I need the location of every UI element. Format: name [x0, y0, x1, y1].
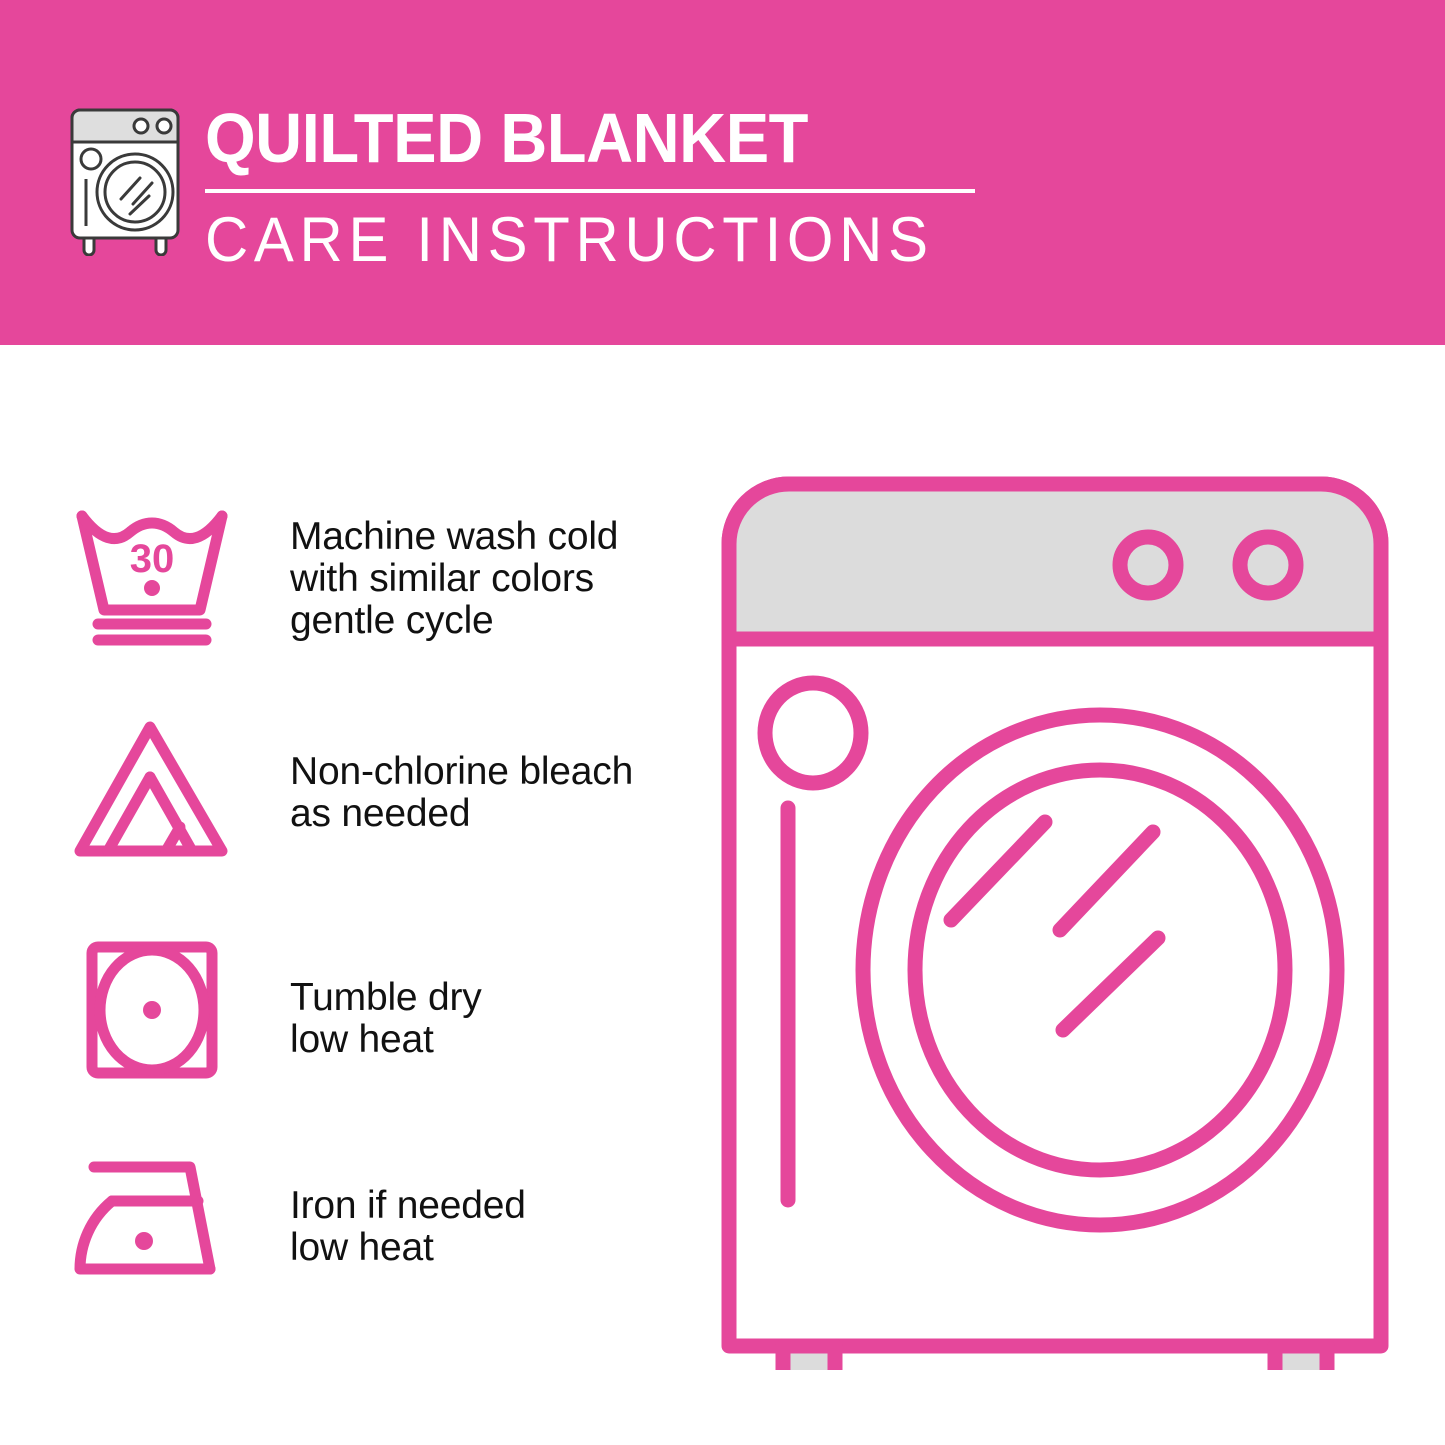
care-line: Machine wash cold: [290, 516, 690, 558]
control-knob: [1120, 537, 1176, 593]
bleach-triangle-icon: [72, 715, 232, 865]
care-text-tumble-dry: Tumble dry low heat: [290, 977, 690, 1061]
iron-icon: [72, 1145, 232, 1295]
wash-temperature-label: 30: [130, 537, 175, 581]
care-line: Non-chlorine bleach: [290, 751, 690, 793]
door-inner-ring: [915, 770, 1285, 1170]
machine-leg: [783, 1346, 835, 1370]
tumble-dry-icon: [72, 935, 232, 1085]
page-subtitle: CARE INSTRUCTIONS: [205, 206, 956, 274]
care-text-machine-wash: Machine wash cold with similar colors ge…: [290, 516, 690, 642]
machine-leg: [1275, 1346, 1327, 1370]
page-title: QUILTED BLANKET: [205, 100, 940, 176]
header-banner: QUILTED BLANKET CARE INSTRUCTIONS: [0, 0, 1445, 345]
washing-machine-illustration: [715, 470, 1395, 1370]
care-line: as needed: [290, 793, 690, 835]
wash-tub-icon: 30: [72, 500, 232, 650]
care-instructions-page: QUILTED BLANKET CARE INSTRUCTIONS: [0, 0, 1445, 1445]
detergent-port-icon: [765, 683, 861, 783]
title-divider: [205, 189, 975, 193]
control-knob: [1240, 537, 1296, 593]
care-line: with similar colors: [290, 558, 690, 600]
care-line: low heat: [290, 1227, 690, 1269]
header-title-block: QUILTED BLANKET CARE INSTRUCTIONS: [205, 100, 995, 274]
care-line: Tumble dry: [290, 977, 690, 1019]
care-line: Iron if needed: [290, 1185, 690, 1227]
care-instruction-list: 30 Machine wash cold with similar colors…: [0, 345, 700, 1445]
care-text-bleach: Non-chlorine bleach as needed: [290, 751, 690, 835]
care-text-iron: Iron if needed low heat: [290, 1185, 690, 1269]
care-line: low heat: [290, 1019, 690, 1061]
washing-machine-icon: [62, 104, 192, 256]
care-line: gentle cycle: [290, 600, 690, 642]
